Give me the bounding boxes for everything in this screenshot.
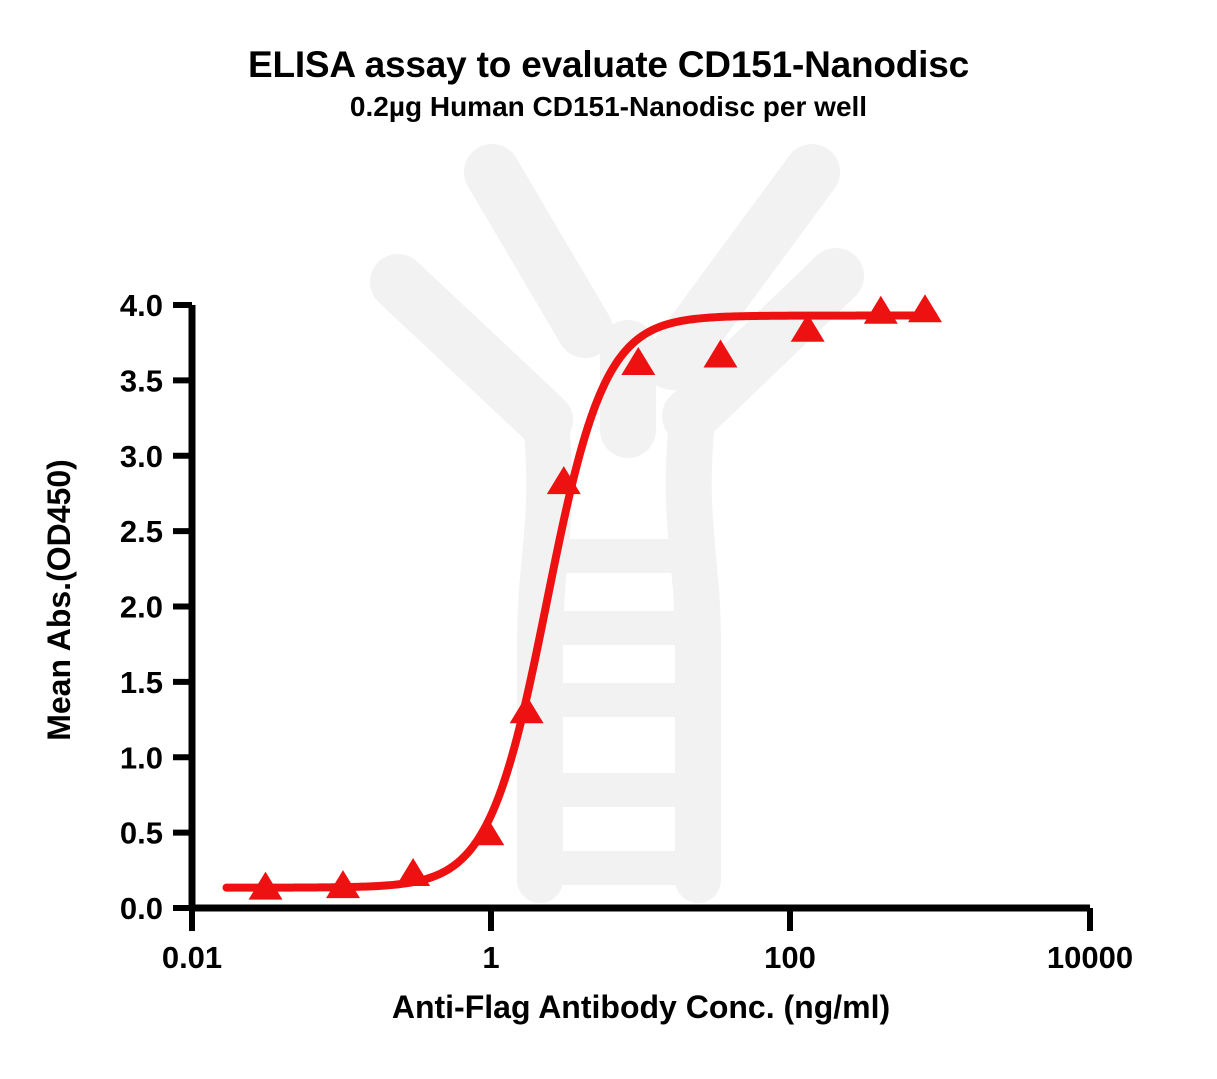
x-tick-label: 10000 [1047, 940, 1133, 975]
x-axis-tick-labels: 0.01 1 100 10000 [162, 940, 1133, 975]
x-axis-title: Anti-Flag Antibody Conc. (ng/ml) [392, 989, 890, 1025]
y-tick-label: 2.5 [120, 514, 163, 549]
x-tick-label: 0.01 [162, 940, 222, 975]
y-tick-label: 2.0 [120, 590, 163, 625]
y-axis-tick-labels: 0.0 0.5 1.0 1.5 2.0 2.5 3.0 3.5 4.0 [120, 288, 163, 926]
y-axis-title: Mean Abs.(OD450) [41, 459, 77, 741]
data-point-markers [249, 294, 943, 899]
y-tick-label: 3.0 [120, 439, 163, 474]
y-tick-label: 4.0 [120, 288, 163, 323]
data-point-marker [864, 296, 898, 324]
x-tick-label: 1 [482, 940, 499, 975]
y-tick-label: 0.0 [120, 891, 163, 926]
antibody-watermark [398, 172, 836, 880]
plot-canvas: 0.0 0.5 1.0 1.5 2.0 2.5 3.0 3.5 4.0 0.01… [0, 0, 1217, 1079]
data-point-marker [470, 817, 504, 845]
y-tick-label: 1.5 [120, 665, 163, 700]
y-tick-label: 0.5 [120, 816, 163, 851]
data-point-marker [396, 858, 430, 886]
data-point-marker [908, 294, 942, 322]
x-tick-label: 100 [764, 940, 816, 975]
chart-figure: ELISA assay to evaluate CD151-Nanodisc 0… [0, 0, 1217, 1079]
y-tick-label: 3.5 [120, 363, 163, 398]
y-tick-label: 1.0 [120, 740, 163, 775]
